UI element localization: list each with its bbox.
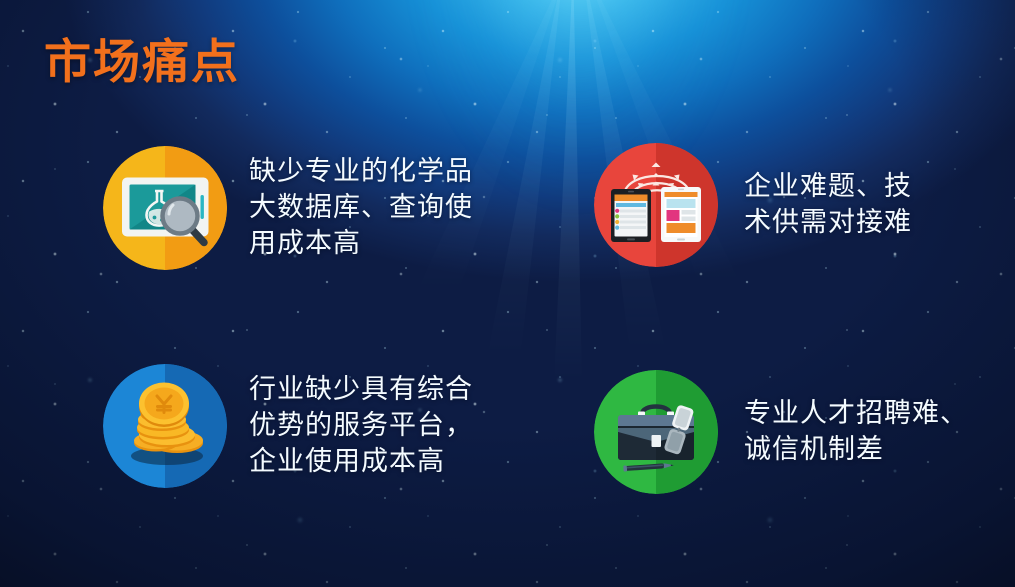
briefcase-glasses-pen-icon [594, 370, 718, 494]
pain-point-item-4[interactable]: 专业人才招聘难、 诚信机制差 [594, 370, 968, 494]
icon-disc-yellow [103, 146, 227, 270]
pain-point-item-1[interactable]: 缺少专业的化学品 大数据库、查询使 用成本高 [103, 146, 473, 270]
background-vignette [0, 0, 1015, 587]
stacked-yen-coins-icon [103, 364, 227, 488]
slide-canvas: 市场痛点 [0, 0, 1015, 587]
pain-point-text-3: 行业缺少具有综合 优势的服务平台， 企业使用成本高 [249, 372, 473, 480]
icon-disc-blue [103, 364, 227, 488]
pain-point-item-2[interactable]: 企业难题、技 术供需对接难 [594, 143, 912, 267]
page-title: 市场痛点 [44, 38, 240, 85]
pain-point-item-3[interactable]: 行业缺少具有综合 优势的服务平台， 企业使用成本高 [103, 364, 473, 488]
icon-disc-green [594, 370, 718, 494]
two-tablets-data-exchange-icon [594, 143, 718, 267]
icon-disc-red [594, 143, 718, 267]
pain-point-text-4: 专业人才招聘难、 诚信机制差 [744, 396, 968, 468]
pain-point-text-2: 企业难题、技 术供需对接难 [744, 169, 912, 241]
pain-point-text-1: 缺少专业的化学品 大数据库、查询使 用成本高 [249, 154, 473, 262]
tablet-flask-search-icon [103, 146, 227, 270]
